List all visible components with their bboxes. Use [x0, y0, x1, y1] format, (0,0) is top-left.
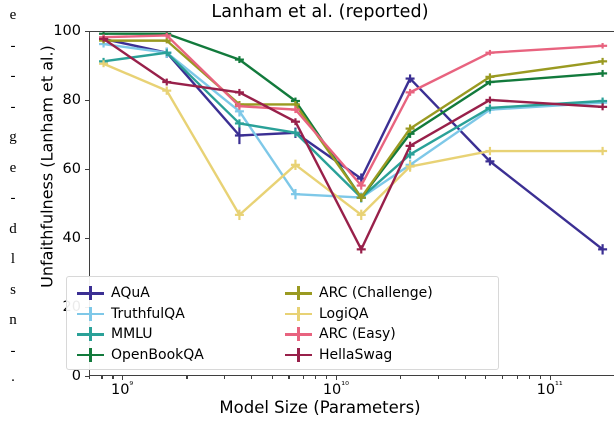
legend-item-arc-easy[interactable]: ARC (Easy)	[285, 324, 433, 345]
series-hellaswag	[99, 36, 607, 253]
x-tick-mark-minor	[529, 376, 530, 379]
legend-item-label: LogiQA	[319, 306, 369, 322]
x-tick-mark-minor	[502, 376, 503, 379]
chart-legend: AQuATruthfulQAMMLUOpenBookQA ARC (Challe…	[66, 276, 499, 370]
x-tick-mark-minor	[288, 376, 289, 379]
legend-marker-icon	[285, 285, 312, 301]
legend-item-label: MMLU	[111, 326, 153, 342]
legend-marker-icon	[77, 347, 104, 363]
legend-marker-icon	[77, 326, 104, 342]
chart-figure: Lanham et al. (reported) Unfaithfulness …	[26, 0, 614, 432]
x-tick-mark-major	[550, 376, 551, 380]
x-tick-mark-minor	[540, 376, 541, 379]
x-tick-mark-minor	[251, 376, 252, 379]
x-tick-mark-major	[336, 376, 337, 380]
x-tick-mark-minor	[186, 376, 187, 379]
x-tick-mark-minor	[112, 376, 113, 379]
legend-marker-icon	[285, 326, 312, 342]
legend-item-label: HellaSwag	[319, 347, 392, 363]
legend-item-mmlu[interactable]: MMLU	[77, 324, 204, 345]
x-tick-mark-minor	[517, 376, 518, 379]
legend-item-label: AQuA	[111, 285, 150, 301]
x-tick-mark-minor	[315, 376, 316, 379]
x-tick-mark-major	[122, 376, 123, 380]
legend-item-hellaswag[interactable]: HellaSwag	[285, 345, 433, 366]
y-tick-label: 80	[35, 92, 81, 108]
legend-item-label: TruthfulQA	[111, 306, 185, 322]
y-tick-label: 60	[35, 161, 81, 177]
y-tick-label: 0	[35, 368, 81, 384]
legend-item-label: ARC (Challenge)	[319, 285, 433, 301]
figure-panel: e - - - g e - d l s n - · Lanham et al. …	[0, 0, 614, 432]
x-axis-label: Model Size (Parameters)	[26, 398, 614, 417]
x-tick-mark-minor	[400, 376, 401, 379]
y-tick-label: 40	[35, 230, 81, 246]
legend-item-arc-challenge[interactable]: ARC (Challenge)	[285, 283, 433, 304]
legend-item-label: OpenBookQA	[111, 347, 204, 363]
legend-marker-icon	[285, 347, 312, 363]
x-tick-mark-minor	[485, 376, 486, 379]
x-tick-label: 10¹¹	[537, 380, 563, 398]
page-margin-text: e - - - g e - d l s n - ·	[0, 0, 26, 432]
legend-item-label: ARC (Easy)	[319, 326, 396, 342]
legend-column-left: AQuATruthfulQAMMLUOpenBookQA	[77, 283, 204, 365]
x-tick-mark-minor	[303, 376, 304, 379]
series-aqua	[99, 35, 607, 255]
legend-marker-icon	[285, 306, 312, 322]
x-tick-mark-minor	[438, 376, 439, 379]
x-tick-mark-minor	[326, 376, 327, 379]
x-tick-mark-minor	[272, 376, 273, 379]
x-tick-mark-minor	[465, 376, 466, 379]
y-tick-label: 100	[35, 23, 81, 39]
legend-marker-icon	[77, 306, 104, 322]
series-arc-easy	[99, 33, 607, 190]
legend-item-aqua[interactable]: AQuA	[77, 283, 204, 304]
x-tick-label: 10¹⁰	[323, 380, 349, 398]
x-tick-mark-minor	[224, 376, 225, 379]
legend-column-right: ARC (Challenge)LogiQAARC (Easy)HellaSwag	[285, 283, 433, 365]
legend-item-logiqa[interactable]: LogiQA	[285, 304, 433, 325]
x-tick-mark-minor	[101, 376, 102, 379]
series-truthfulqa	[99, 41, 607, 203]
chart-title: Lanham et al. (reported)	[26, 2, 614, 22]
legend-item-openbookqa[interactable]: OpenBookQA	[77, 345, 204, 366]
legend-item-truthfulqa[interactable]: TruthfulQA	[77, 304, 204, 325]
x-tick-label: 10⁹	[111, 380, 133, 398]
legend-marker-icon	[77, 285, 104, 301]
x-tick-mark-minor	[89, 376, 90, 379]
